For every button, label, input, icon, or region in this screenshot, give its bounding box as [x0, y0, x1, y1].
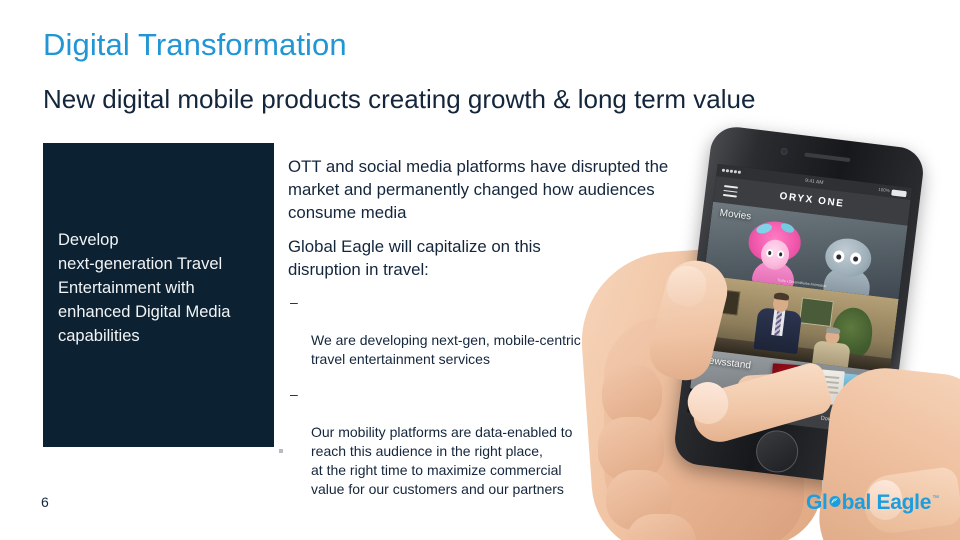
signal-strength-icon [722, 169, 741, 174]
list-item: – We are developing next-gen, mobile-cen… [288, 293, 608, 369]
bullet-list: – We are developing next-gen, mobile-cen… [288, 293, 608, 515]
list-item-text: Our mobility platforms are data-enabled … [311, 424, 572, 497]
battery-icon [891, 189, 907, 197]
trademark-symbol: ™ [932, 495, 939, 502]
global-eagle-logo: Gl bal Eagle ™ [806, 492, 939, 514]
eye [766, 249, 774, 258]
eye [777, 250, 785, 259]
list-item-text: We are developing next-gen, mobile-centr… [311, 332, 581, 367]
callout-text: Develop next-generation Travel Entertain… [58, 228, 268, 348]
bullet-dash-icon: – [290, 385, 298, 404]
list-item: – Our mobility platforms are data-enable… [288, 385, 608, 499]
body-paragraph-2: Global Eagle will capitalize on this dis… [288, 235, 618, 281]
page-subtitle: New digital mobile products creating gro… [43, 82, 755, 116]
wall-picture [799, 297, 834, 327]
eye [833, 250, 845, 263]
page-number: 6 [41, 494, 49, 510]
slide-canvas: Digital Transformation New digital mobil… [0, 0, 960, 540]
bullet-dash-icon: – [290, 293, 298, 312]
callout-resize-marker [279, 449, 283, 453]
eye [850, 252, 862, 265]
phone-in-hand-photo: 9:41 AM 100% ORYX ONE [596, 132, 960, 540]
logo-text-part-1: Gl [806, 492, 828, 514]
tile-label: Movies [719, 208, 752, 223]
page-title: Digital Transformation [43, 26, 347, 64]
callout-box: Develop next-generation Travel Entertain… [43, 143, 274, 447]
logo-text-part-2: bal Eagle [842, 492, 932, 514]
